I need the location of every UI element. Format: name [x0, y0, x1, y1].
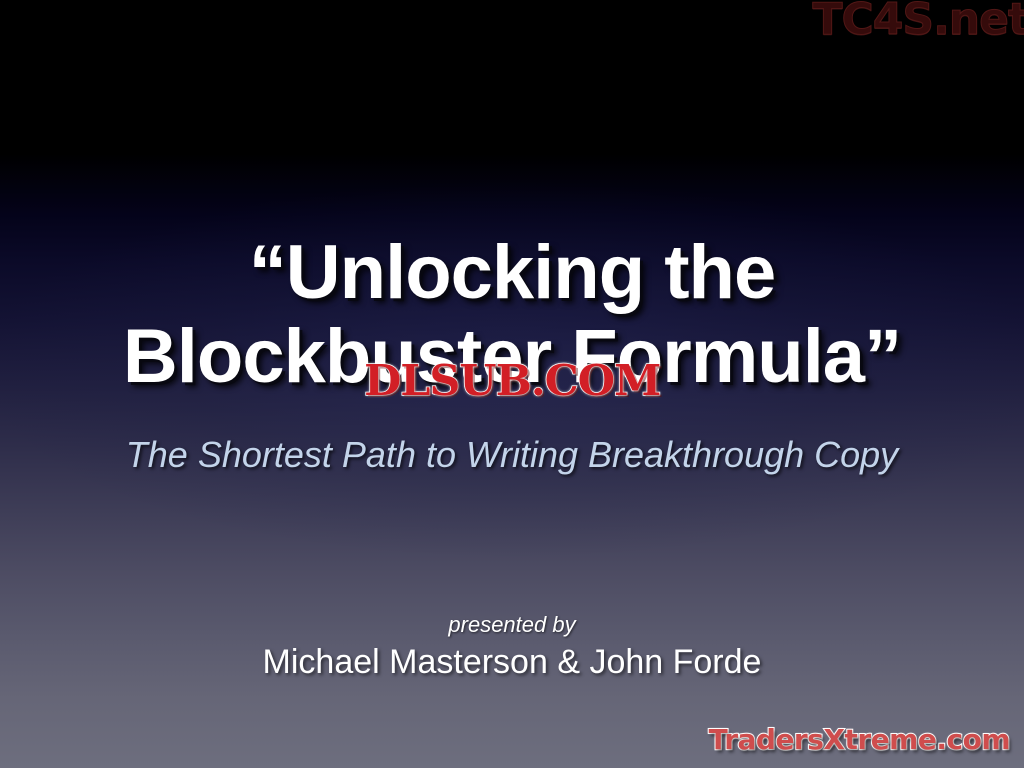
title-line-1: “Unlocking the	[0, 236, 1024, 310]
watermark-top-right: TC4S.net	[812, 0, 1024, 45]
presenter-names: Michael Masterson & John Forde	[0, 643, 1024, 682]
presentation-slide: TC4S.net “Unlocking the Blockbuster Form…	[0, 0, 1024, 768]
title-line-2: Blockbuster Formula”	[0, 320, 1024, 394]
presenter-block: presented by Michael Masterson & John Fo…	[0, 612, 1024, 682]
watermark-bottom-right: TradersXtreme.com	[709, 723, 1010, 756]
presented-by-label: presented by	[0, 612, 1024, 637]
slide-subtitle: The Shortest Path to Writing Breakthroug…	[0, 434, 1024, 476]
slide-title: “Unlocking the Blockbuster Formula”	[0, 236, 1024, 395]
